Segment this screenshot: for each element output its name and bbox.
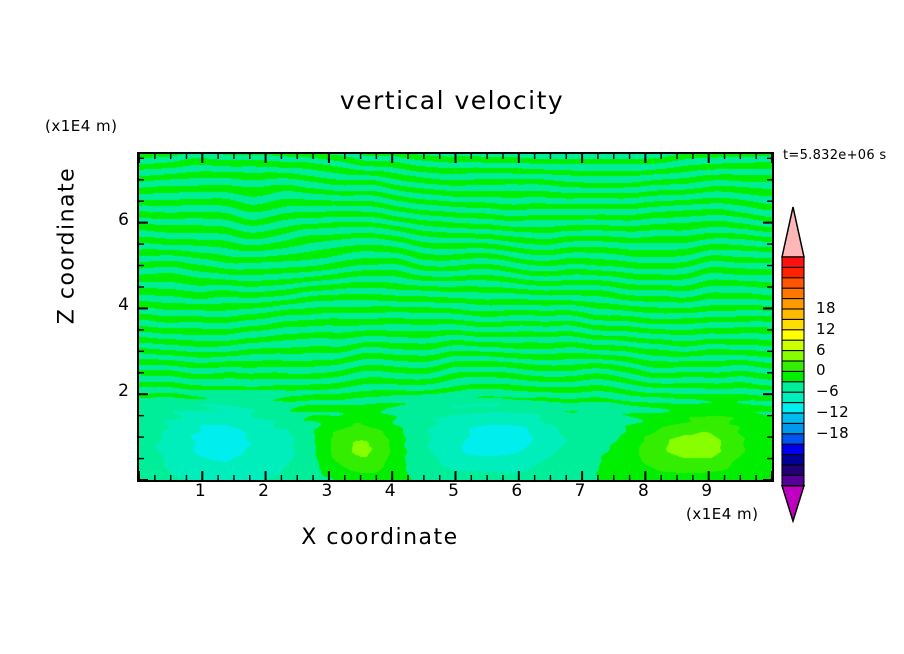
colorbar-tick-label: −18 [816,424,849,442]
colorbar [778,205,812,523]
colorbar-band [782,330,804,341]
contour-plot-area [137,152,774,482]
colorbar-band [782,371,804,382]
y-tick-label: 2 [99,381,129,401]
colorbar-tick-label: 18 [816,299,836,317]
colorbar-tick-label: 0 [816,361,826,379]
x-tick-label: 7 [565,481,595,501]
velocity-field-image [139,154,772,480]
y-axis-label: Z coordinate [55,121,80,371]
timestamp-annotation: t=5.832e+06 s [783,148,886,163]
y-tick-label: 4 [99,295,129,315]
colorbar-band [782,444,804,455]
colorbar-band [782,434,804,445]
colorbar-band [782,423,804,434]
x-axis-unit-label: (x1E4 m) [686,505,759,523]
colorbar-band [782,475,804,486]
x-tick-label: 3 [312,481,342,501]
colorbar-band [782,382,804,393]
colorbar-tick-label: 12 [816,320,836,338]
colorbar-tick-label: −12 [816,403,849,421]
x-tick-label: 1 [185,481,215,501]
x-tick-label: 4 [375,481,405,501]
colorbar-band [782,361,804,372]
y-tick-label: 6 [99,210,129,230]
colorbar-band [782,267,804,278]
colorbar-under-arrow [782,486,804,521]
colorbar-band [782,403,804,414]
x-tick-label: 9 [692,481,722,501]
x-tick-label: 8 [628,481,658,501]
vertical-velocity-field [139,154,772,480]
colorbar-band [782,319,804,330]
colorbar-band [782,309,804,320]
colorbar-band [782,455,804,466]
x-tick-label: 2 [249,481,279,501]
colorbar-band [782,413,804,424]
x-axis-label: X coordinate [0,525,760,550]
x-tick-label: 6 [502,481,532,501]
colorbar-band [782,465,804,476]
colorbar-band [782,278,804,289]
colorbar-band [782,351,804,362]
colorbar-band [782,392,804,403]
colorbar-over-arrow [782,207,804,257]
colorbar-band [782,340,804,351]
colorbar-band [782,257,804,268]
colorbar-tick-label: 6 [816,341,826,359]
colorbar-tick-label: −6 [816,382,839,400]
colorbar-band [782,288,804,299]
page-title: vertical velocity [0,86,904,115]
figure-canvas: vertical velocity (x1E4 m) t=5.832e+06 s… [0,0,904,654]
x-tick-label: 5 [439,481,469,501]
colorbar-band [782,299,804,310]
